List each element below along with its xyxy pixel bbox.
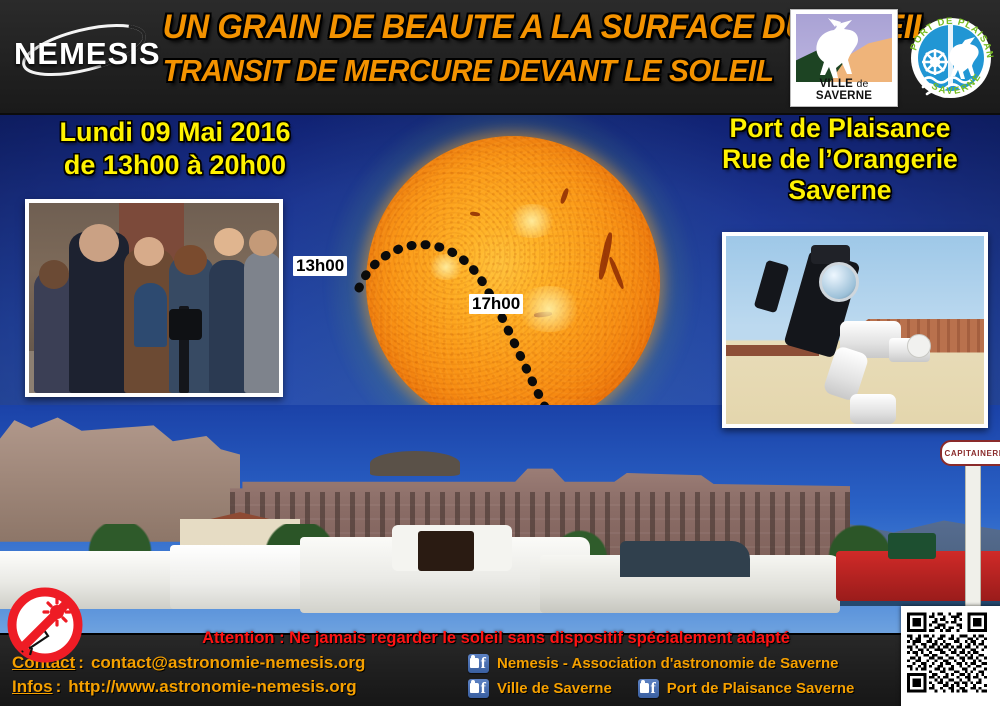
person-shirt — [134, 283, 167, 348]
qr-code[interactable] — [901, 606, 1000, 706]
observation-crowd-photo — [25, 199, 283, 397]
facebook-page-nemesis: Nemesis - Association d'astronomie de Sa… — [497, 655, 838, 672]
person-head — [174, 245, 207, 275]
tripod-head — [850, 394, 896, 424]
event-date-block: Lundi 09 Mai 2016 de 13h00 à 20h00 — [30, 116, 320, 182]
facebook-row[interactable]: f Nemesis - Association d'astronomie de … — [468, 651, 854, 676]
capitainerie-sign: CAPITAINERIE — [940, 440, 1000, 466]
facebook-row[interactable]: f Ville de Saverne f Port de Plaisance S… — [468, 676, 854, 701]
header-bar: NEMESIS UN GRAIN DE BEAUTE A LA SURFACE … — [0, 0, 1000, 115]
crowd-photo-background — [29, 203, 279, 393]
poster-root: 13h00 17h00 20h45 CAPITAINERIE — [0, 0, 1000, 706]
ville-logo-caption: VILLE de SAVERNE — [791, 78, 897, 102]
port-logo-artwork: PORT DE PLAISANCE SAVERNE — [905, 4, 997, 108]
solar-telescope-photo — [722, 232, 988, 428]
person-head — [79, 224, 119, 262]
ville-caption-post: SAVERNE — [816, 90, 872, 102]
boat-wheelhouse — [620, 541, 750, 577]
footer-bar: Attention : Ne jamais regarder le soleil… — [0, 633, 1000, 706]
person-head — [249, 230, 277, 257]
title-line-2: TRANSIT DE MERCURE DEVANT LE SOLEIL — [163, 50, 768, 92]
event-date-line-1: Lundi 09 Mai 2016 — [30, 116, 320, 149]
sun-plage — [506, 204, 558, 238]
chateau-dome — [370, 451, 460, 476]
safety-warning: Attention : Ne jamais regarder le soleil… — [96, 629, 896, 648]
crowd-photo-inner — [29, 203, 279, 393]
title-line-1: UN GRAIN DE BEAUTE A LA SURFACE DU SOLEI… — [163, 4, 768, 50]
dew-cap — [811, 245, 850, 264]
person — [244, 252, 279, 393]
event-place-line-1: Port de Plaisance — [690, 113, 990, 144]
qr-code-image — [907, 612, 987, 693]
facebook-icon: f — [468, 654, 489, 673]
infos-label: Infos — [12, 677, 53, 697]
ville-caption-de: de — [856, 78, 868, 90]
person-head — [39, 260, 69, 289]
event-place-line-2: Rue de l’Orangerie — [690, 144, 990, 175]
unicorn-icon — [808, 18, 870, 82]
no-unaided-solar-observation-icon — [6, 586, 84, 664]
ville-de-saverne-logo: VILLE de SAVERNE — [790, 9, 898, 107]
sun-plage — [426, 254, 466, 280]
sun-granulation-texture-2 — [366, 136, 660, 430]
sun-disk — [366, 136, 660, 430]
person-head — [214, 228, 244, 257]
telescope-photo-inner — [726, 236, 984, 424]
transit-label-start: 13h00 — [293, 256, 347, 276]
facebook-icon: f — [468, 679, 489, 698]
event-place-line-3: Saverne — [690, 175, 990, 206]
nemesis-logo: NEMESIS — [8, 16, 160, 86]
facebook-icon: f — [638, 679, 659, 698]
infos-separator: : — [53, 677, 65, 697]
barge-cabin — [888, 533, 936, 559]
telescope-tube — [169, 309, 202, 339]
facebook-page-ville: Ville de Saverne — [497, 680, 612, 697]
infos-row: Infos : http://www.astronomie-nemesis.or… — [12, 677, 365, 701]
solar-filter-icon — [819, 262, 859, 302]
sun-plage — [514, 286, 584, 332]
ville-logo-artwork — [796, 14, 892, 82]
facebook-page-port: Port de Plaisance Saverne — [667, 680, 855, 697]
ville-caption-pre: VILLE — [819, 78, 853, 90]
counterweight — [907, 334, 931, 358]
event-place-block: Port de Plaisance Rue de l’Orangerie Sav… — [690, 113, 990, 206]
facebook-links-block: f Nemesis - Association d'astronomie de … — [468, 651, 854, 701]
nemesis-wordmark: NEMESIS — [14, 36, 159, 72]
contact-email[interactable]: contact@astronomie-nemesis.org — [87, 653, 365, 673]
poster-title: UN GRAIN DE BEAUTE A LA SURFACE DU SOLEI… — [150, 4, 780, 92]
port-de-plaisance-logo: PORT DE PLAISANCE SAVERNE — [905, 4, 997, 108]
infos-url[interactable]: http://www.astronomie-nemesis.org — [64, 677, 356, 697]
transit-label-middle: 17h00 — [469, 294, 523, 314]
event-date-line-2: de 13h00 à 20h00 — [30, 149, 320, 182]
saverne-harbour-panorama — [0, 405, 1000, 633]
person-head — [134, 237, 164, 266]
boat-door — [418, 531, 474, 571]
person — [209, 260, 249, 393]
